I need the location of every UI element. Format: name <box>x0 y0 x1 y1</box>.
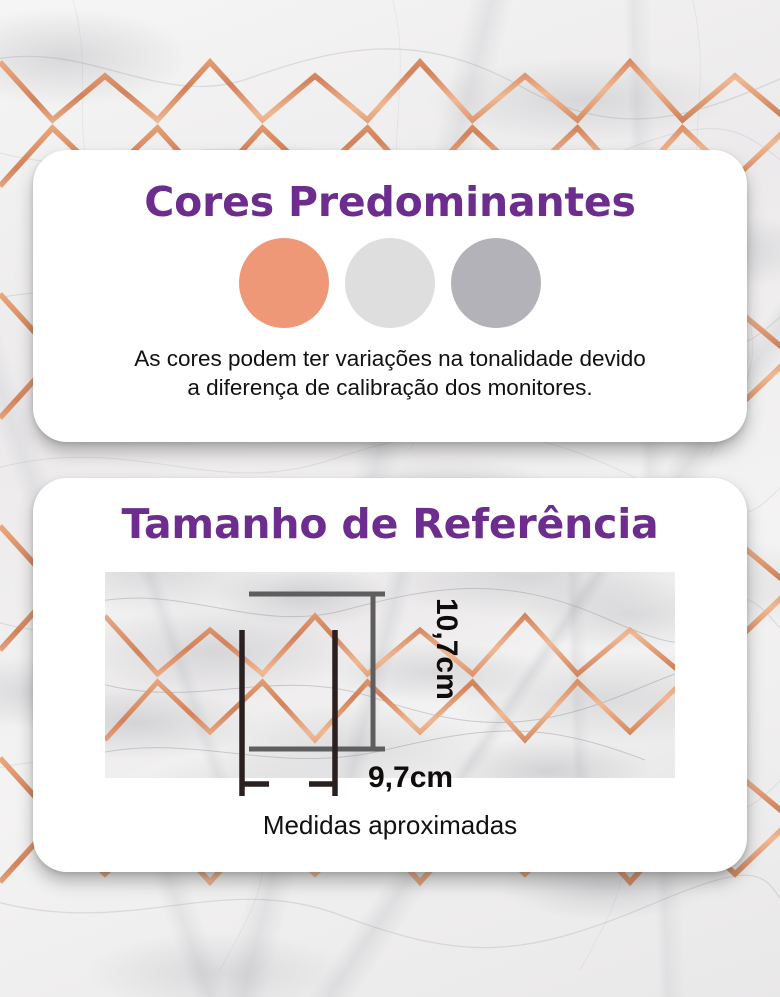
color-swatch-medium-grey <box>451 238 541 328</box>
size-card-title: Tamanho de Referência <box>33 500 747 548</box>
color-note-line-1: As cores podem ter variações na tonalida… <box>134 346 646 371</box>
reference-size-card: Tamanho de Referência <box>33 478 747 872</box>
color-note-line-2: a diferença de calibração dos monitores. <box>187 375 592 400</box>
approximate-measures-note: Medidas aproximadas <box>33 810 747 841</box>
product-info-graphic: Cores Predominantes As cores podem ter v… <box>0 0 780 997</box>
height-measurement-label: 10,7cm <box>429 598 463 700</box>
colors-card-title: Cores Predominantes <box>33 178 747 226</box>
width-measurement-label: 9,7cm <box>368 761 453 795</box>
color-swatch-light-grey <box>345 238 435 328</box>
color-swatch-salmon <box>239 238 329 328</box>
color-variation-note: As cores podem ter variações na tonalida… <box>59 344 721 402</box>
product-photo-window <box>105 572 675 778</box>
predominant-colors-card: Cores Predominantes As cores podem ter v… <box>33 150 747 442</box>
product-hexagon-pattern <box>105 572 675 778</box>
color-swatch-row <box>33 238 747 328</box>
